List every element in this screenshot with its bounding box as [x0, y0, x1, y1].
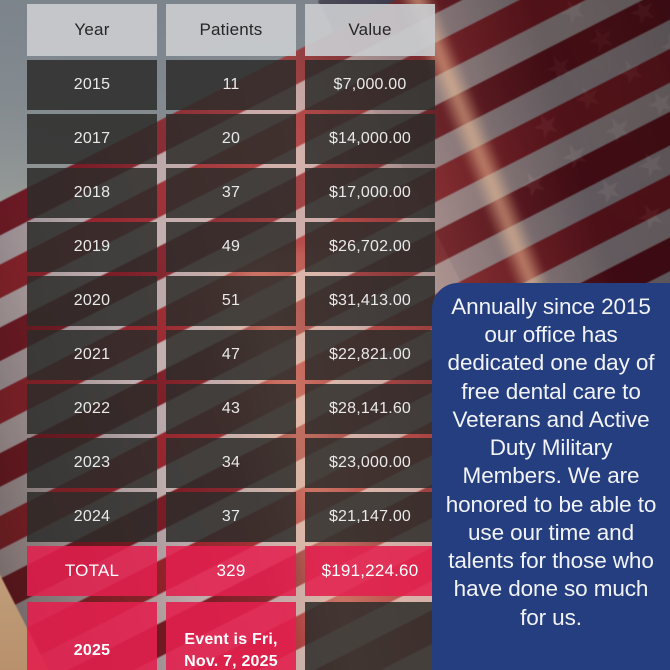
table-total-row: TOTAL 329 $191,224.60 [27, 546, 437, 596]
cell-patients: 47 [166, 330, 296, 380]
table-row: 2022 43 $28,141.60 [27, 384, 437, 434]
statistics-table: Year Patients Value 2015 11 $7,000.00 20… [27, 4, 437, 670]
cell-patients: 34 [166, 438, 296, 488]
poster-canvas: Year Patients Value 2015 11 $7,000.00 20… [0, 0, 670, 670]
cell-value: $26,702.00 [305, 222, 435, 272]
cell-event-blank [305, 602, 435, 670]
column-header-year: Year [27, 4, 157, 56]
table-row: 2020 51 $31,413.00 [27, 276, 437, 326]
table-row: 2015 11 $7,000.00 [27, 60, 437, 110]
cell-year: 2018 [27, 168, 157, 218]
cell-patients: 37 [166, 168, 296, 218]
cell-total-value: $191,224.60 [305, 546, 435, 596]
cell-year: 2017 [27, 114, 157, 164]
cell-year: 2020 [27, 276, 157, 326]
cell-year: 2015 [27, 60, 157, 110]
column-header-patients: Patients [166, 4, 296, 56]
cell-event-year: 2025 [27, 602, 157, 670]
cell-patients: 51 [166, 276, 296, 326]
message-panel-text: Annually since 2015 our office has dedic… [440, 293, 662, 632]
table-event-row: 2025 Event is Fri, Nov. 7, 2025 [27, 602, 437, 670]
cell-patients: 20 [166, 114, 296, 164]
cell-year: 2024 [27, 492, 157, 542]
cell-total-patients: 329 [166, 546, 296, 596]
cell-total-label: TOTAL [27, 546, 157, 596]
cell-year: 2023 [27, 438, 157, 488]
cell-value: $21,147.00 [305, 492, 435, 542]
cell-value: $23,000.00 [305, 438, 435, 488]
cell-value: $7,000.00 [305, 60, 435, 110]
table-row: 2021 47 $22,821.00 [27, 330, 437, 380]
cell-value: $17,000.00 [305, 168, 435, 218]
cell-year: 2019 [27, 222, 157, 272]
message-panel: Annually since 2015 our office has dedic… [432, 283, 670, 670]
cell-patients: 37 [166, 492, 296, 542]
table-header-row: Year Patients Value [27, 4, 437, 56]
cell-value: $28,141.60 [305, 384, 435, 434]
cell-patients: 11 [166, 60, 296, 110]
cell-patients: 49 [166, 222, 296, 272]
cell-event-date: Event is Fri, Nov. 7, 2025 [166, 602, 296, 670]
table-row: 2018 37 $17,000.00 [27, 168, 437, 218]
cell-value: $31,413.00 [305, 276, 435, 326]
table-row: 2024 37 $21,147.00 [27, 492, 437, 542]
table-row: 2017 20 $14,000.00 [27, 114, 437, 164]
table-row: 2023 34 $23,000.00 [27, 438, 437, 488]
column-header-value: Value [305, 4, 435, 56]
table-row: 2019 49 $26,702.00 [27, 222, 437, 272]
cell-year: 2022 [27, 384, 157, 434]
cell-value: $22,821.00 [305, 330, 435, 380]
cell-patients: 43 [166, 384, 296, 434]
cell-value: $14,000.00 [305, 114, 435, 164]
cell-year: 2021 [27, 330, 157, 380]
